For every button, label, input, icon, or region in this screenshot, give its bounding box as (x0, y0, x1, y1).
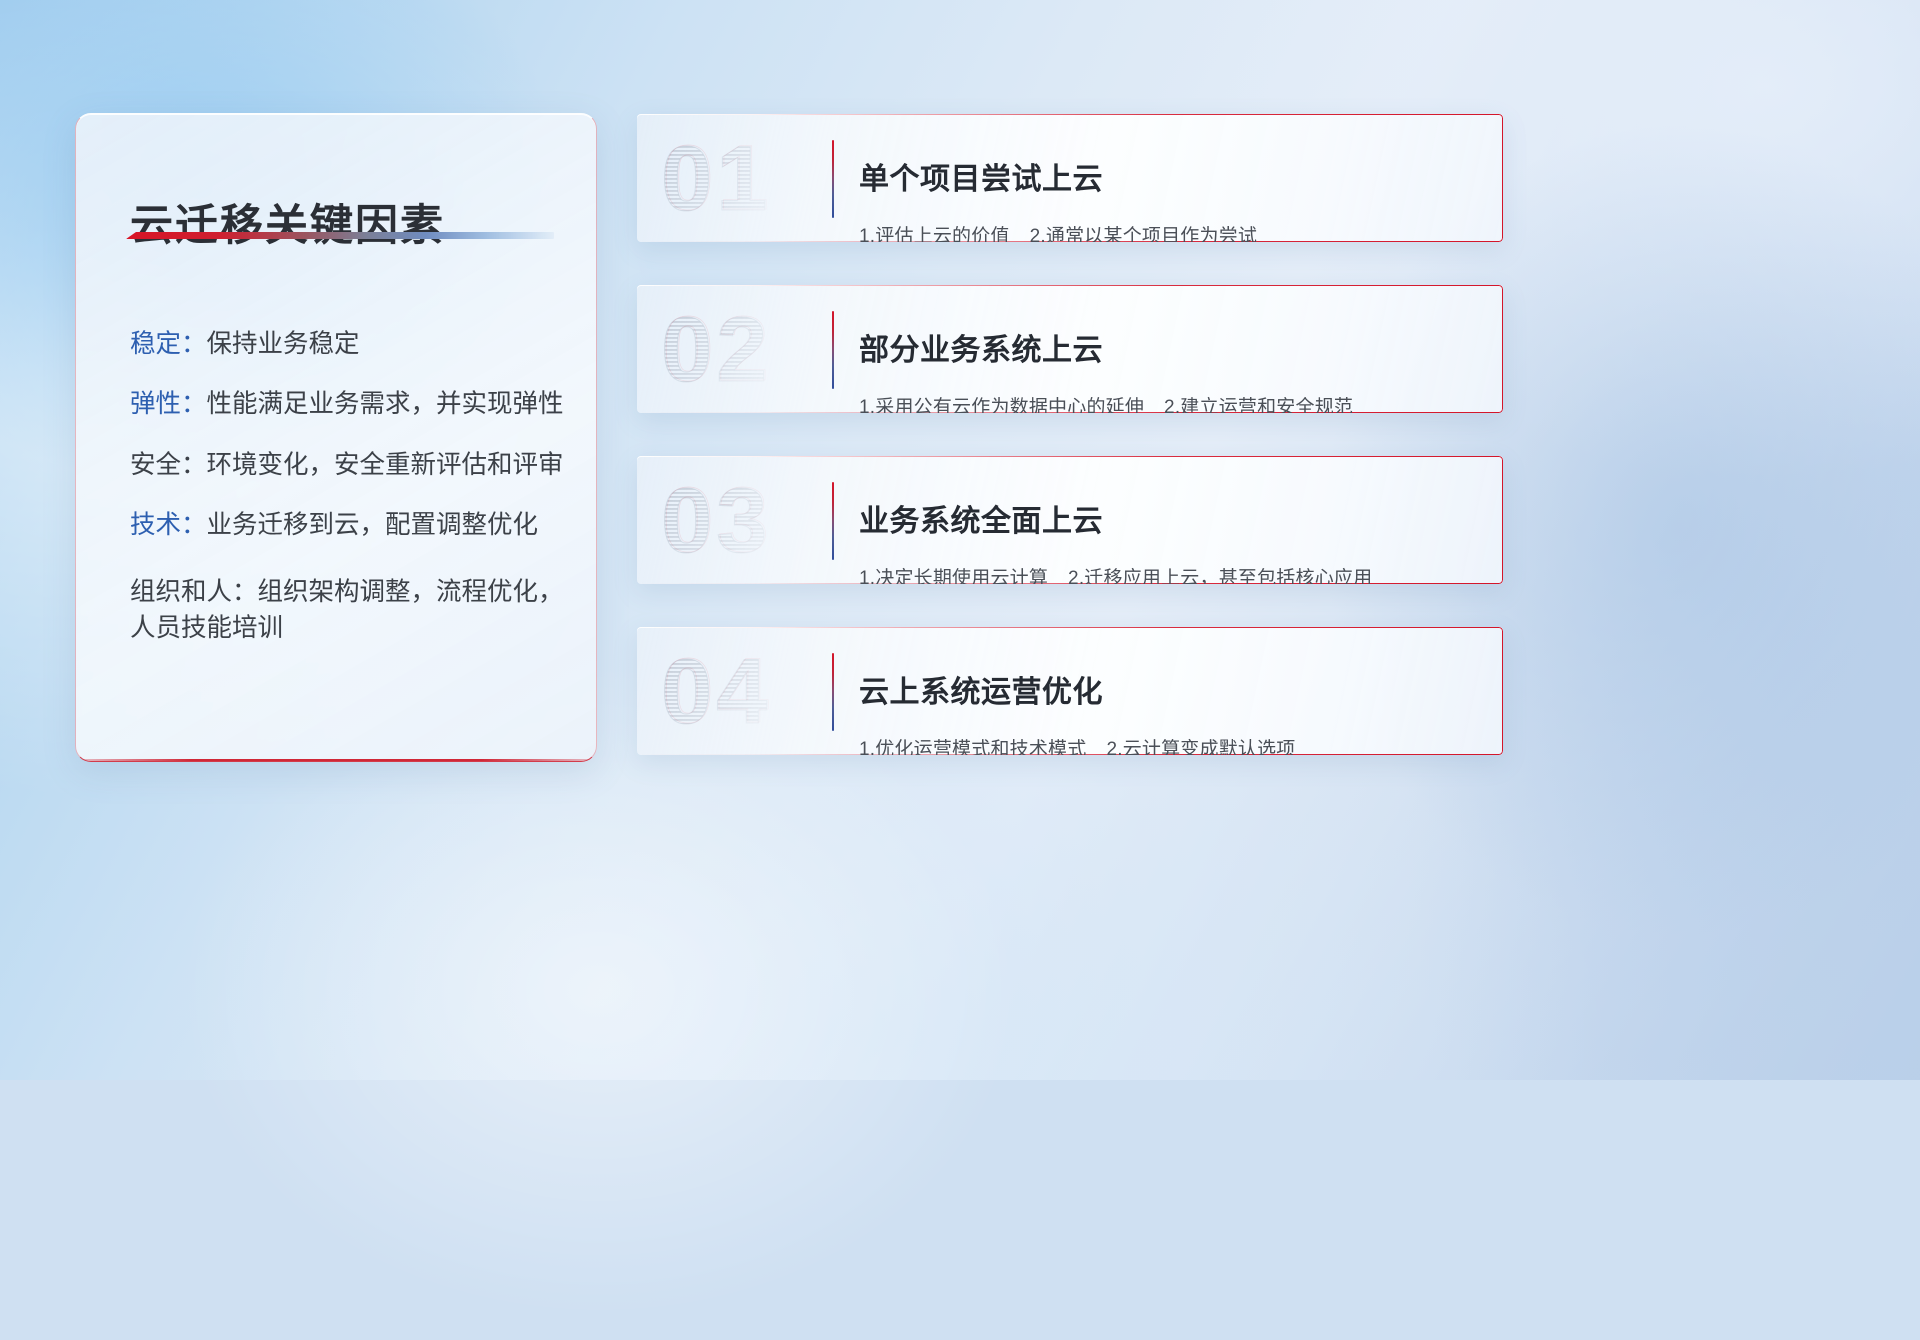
factor-item-stability: 稳定：保持业务稳定 (130, 332, 570, 358)
key-factors-list: 稳定：保持业务稳定 弹性：性能满足业务需求，并实现弹性 安全：环境变化，安全重新… (130, 306, 570, 646)
title-underline-accent (126, 232, 554, 239)
factor-label: 技术： (130, 511, 207, 539)
factor-text: 保持业务稳定 (207, 330, 360, 358)
stage-number-03: 03 03 (659, 472, 809, 568)
svg-text:01: 01 (663, 130, 773, 226)
stage-content-03: 业务系统全面上云 1.决定长期使用云计算2.迁移应用上云，甚至包括核心应用 (859, 480, 1485, 584)
stage-point-1: 1.决定长期使用云计算 (859, 568, 1048, 584)
stage-card-02[interactable]: 02 02 部分业务系统上云 1.采用公有云作为数据中心的延伸2.建立运营和安全… (637, 285, 1503, 413)
factor-text: 环境变化，安全重新评估和评审 (207, 451, 564, 479)
stage-point-2: 2.云计算变成默认选项 (1106, 739, 1295, 755)
migration-stages-list: 01 01 单个项目尝试上云 1.评估上云的价值2.通常以某个项目作为尝试 (637, 114, 1503, 798)
stage-number-01: 01 01 (659, 130, 809, 226)
stage-accent-divider (832, 311, 834, 389)
svg-text:02: 02 (663, 301, 773, 397)
factor-label: 安全： (130, 451, 207, 479)
key-factors-panel: 云迁移关键因素 稳定：保持业务稳定 弹性：性能满足业务需求，并实现弹性 安全：环… (75, 113, 597, 762)
stage-points: 1.采用公有云作为数据中心的延伸2.建立运营和安全规范 (859, 392, 1485, 413)
factor-label: 组织和人： (130, 578, 258, 606)
stage-content-02: 部分业务系统上云 1.采用公有云作为数据中心的延伸2.建立运营和安全规范 (859, 309, 1485, 413)
factor-label: 弹性： (130, 390, 207, 418)
factor-label: 稳定： (130, 330, 207, 358)
factor-text: 业务迁移到云，配置调整优化 (207, 511, 539, 539)
stage-number-02: 02 02 (659, 301, 809, 397)
stage-point-2: 2.迁移应用上云，甚至包括核心应用 (1068, 568, 1372, 584)
stage-title: 单个项目尝试上云 (859, 163, 1485, 196)
stage-number-04: 04 04 (659, 643, 809, 739)
svg-text:03: 03 (663, 472, 773, 568)
stage-point-1: 1.评估上云的价值 (859, 226, 1010, 242)
stage-accent-divider (832, 482, 834, 560)
stage-point-1: 1.采用公有云作为数据中心的延伸 (859, 397, 1144, 413)
stage-points: 1.决定长期使用云计算2.迁移应用上云，甚至包括核心应用 (859, 563, 1485, 584)
stage-accent-divider (832, 140, 834, 218)
stage-content-04: 云上系统运营优化 1.优化运营模式和技术模式2.云计算变成默认选项 (859, 651, 1485, 755)
slide-stage: 云迁移关键因素 稳定：保持业务稳定 弹性：性能满足业务需求，并实现弹性 安全：环… (0, 0, 1920, 1080)
factor-item-elasticity: 弹性：性能满足业务需求，并实现弹性 (130, 392, 570, 418)
factor-item-security: 安全：环境变化，安全重新评估和评审 (130, 453, 570, 479)
stage-point-2: 2.通常以某个项目作为尝试 (1030, 226, 1257, 242)
stage-title: 云上系统运营优化 (859, 676, 1485, 709)
stage-title: 业务系统全面上云 (859, 505, 1485, 538)
stage-accent-divider (832, 653, 834, 731)
factor-item-technology: 技术：业务迁移到云，配置调整优化 (130, 513, 570, 539)
stage-point-1: 1.优化运营模式和技术模式 (859, 739, 1086, 755)
factor-text: 性能满足业务需求，并实现弹性 (207, 390, 564, 418)
stage-points: 1.评估上云的价值2.通常以某个项目作为尝试 (859, 221, 1485, 242)
stage-card-04[interactable]: 04 04 云上系统运营优化 1.优化运营模式和技术模式2.云计算变成默认选项 (637, 627, 1503, 755)
stage-title: 部分业务系统上云 (859, 334, 1485, 367)
factor-item-organization-people: 组织和人：组织架构调整，流程优化，人员技能培训 (130, 574, 570, 646)
stage-points: 1.优化运营模式和技术模式2.云计算变成默认选项 (859, 734, 1485, 755)
stage-card-03[interactable]: 03 03 业务系统全面上云 1.决定长期使用云计算2.迁移应用上云，甚至包括核… (637, 456, 1503, 584)
svg-text:04: 04 (663, 643, 773, 739)
stage-point-2: 2.建立运营和安全规范 (1164, 397, 1353, 413)
stage-content-01: 单个项目尝试上云 1.评估上云的价值2.通常以某个项目作为尝试 (859, 138, 1485, 242)
page-title: 云迁移关键因素 (130, 191, 445, 253)
stage-card-01[interactable]: 01 01 单个项目尝试上云 1.评估上云的价值2.通常以某个项目作为尝试 (637, 114, 1503, 242)
